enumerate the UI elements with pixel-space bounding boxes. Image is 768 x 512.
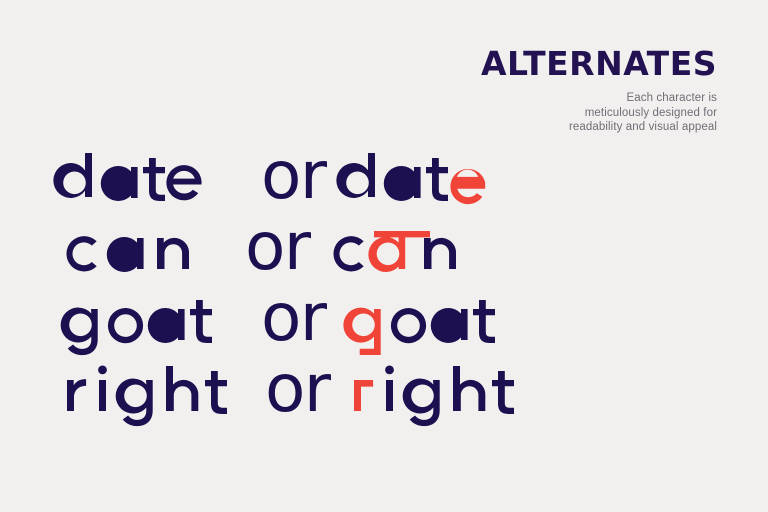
header-block: ALTERNATES Each character is meticulousl… (437, 46, 717, 135)
word-can-alternate (321, 211, 501, 282)
subtitle-line-3: readability and visual appeal (437, 120, 717, 135)
word-right-alternate (341, 353, 541, 424)
conjunction-label: or (254, 353, 341, 424)
conjunction-label: or (234, 211, 321, 282)
specimen-poster: ALTERNATES Each character is meticulousl… (0, 0, 768, 512)
word-date-alternate (337, 140, 533, 211)
subtitle-line-1: Each character is (437, 91, 717, 106)
alternate-glyph-a (368, 231, 430, 272)
word-goat-default (54, 282, 250, 353)
specimen-list: or (54, 140, 744, 424)
header-subtitle: Each character is meticulously designed … (437, 91, 717, 135)
specimen-row: or (54, 282, 744, 353)
word-goat-alternate (337, 282, 533, 353)
specimen-row: or (54, 211, 744, 282)
alternate-glyph-g (343, 308, 380, 355)
word-right-default (54, 353, 254, 424)
word-date-default (54, 140, 250, 211)
specimen-row: or (54, 140, 744, 211)
alternate-glyph-r (354, 380, 373, 411)
word-can-default (54, 211, 234, 282)
conjunction-label: or (250, 282, 337, 353)
conjunction-label: or (250, 140, 337, 211)
page-title: ALTERNATES (437, 46, 717, 82)
alternate-glyph-e (450, 169, 485, 204)
subtitle-line-2: meticulously designed for (437, 106, 717, 121)
specimen-row: or (54, 353, 744, 424)
